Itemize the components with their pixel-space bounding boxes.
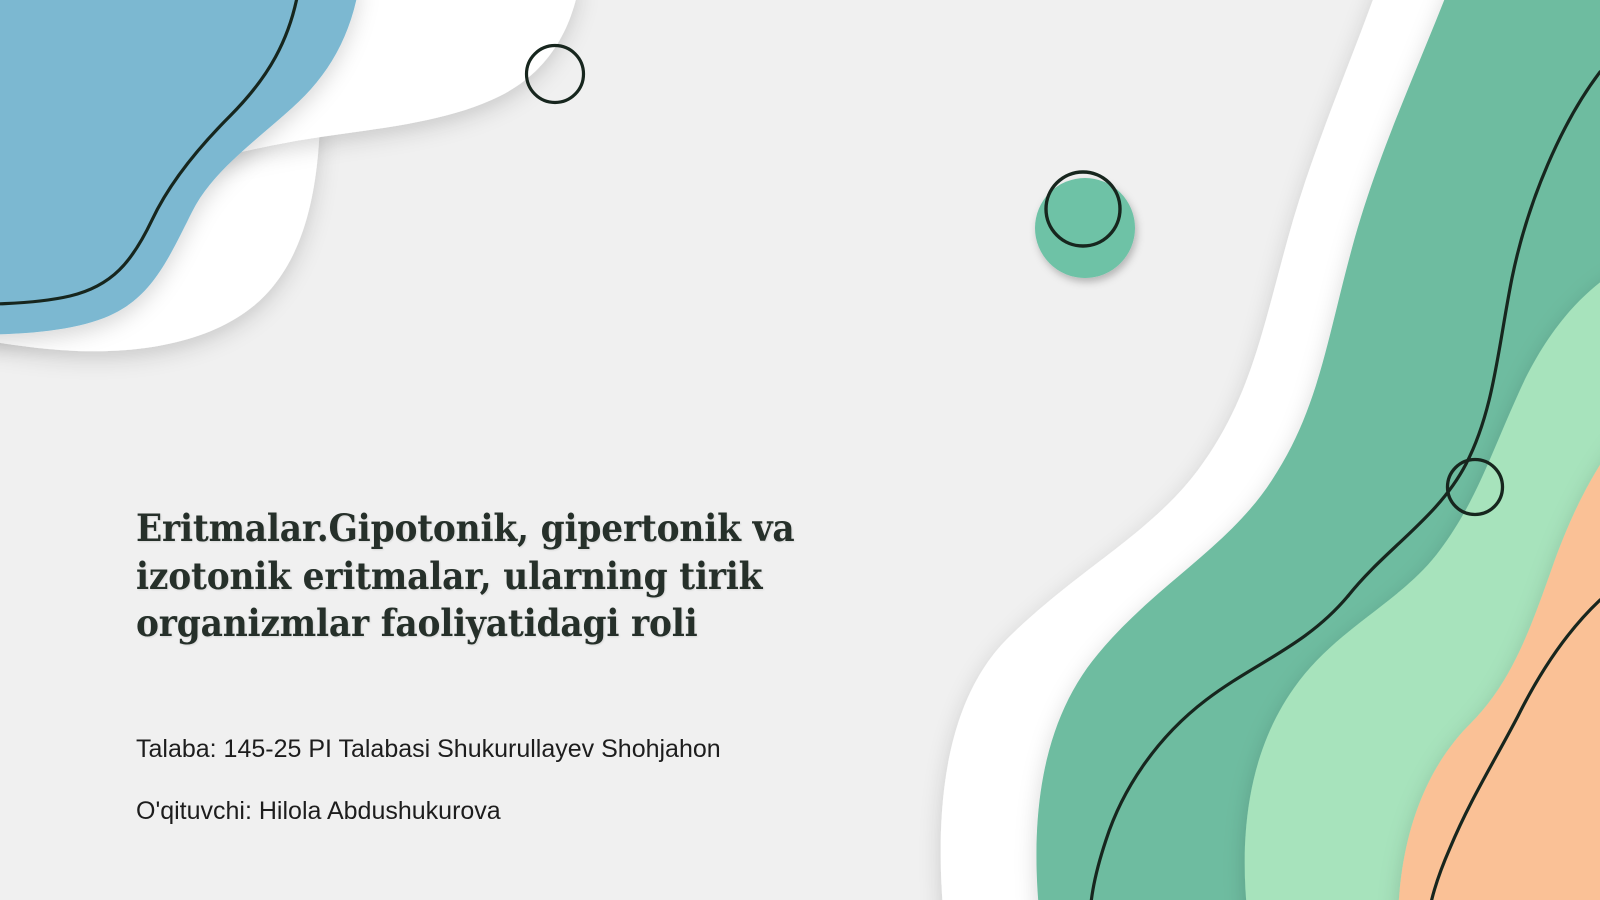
student-line: Talaba: 145-25 PI Talabasi Shukurullayev…: [136, 734, 996, 764]
title-slide: Eritmalar.Gipotonik, gipertonik va izoto…: [0, 0, 1600, 900]
page-title: Eritmalar.Gipotonik, gipertonik va izoto…: [136, 505, 936, 648]
title-text-block: Eritmalar.Gipotonik, gipertonik va izoto…: [136, 505, 996, 826]
teacher-line: O'qituvchi: Hilola Abdushukurova: [136, 796, 996, 826]
